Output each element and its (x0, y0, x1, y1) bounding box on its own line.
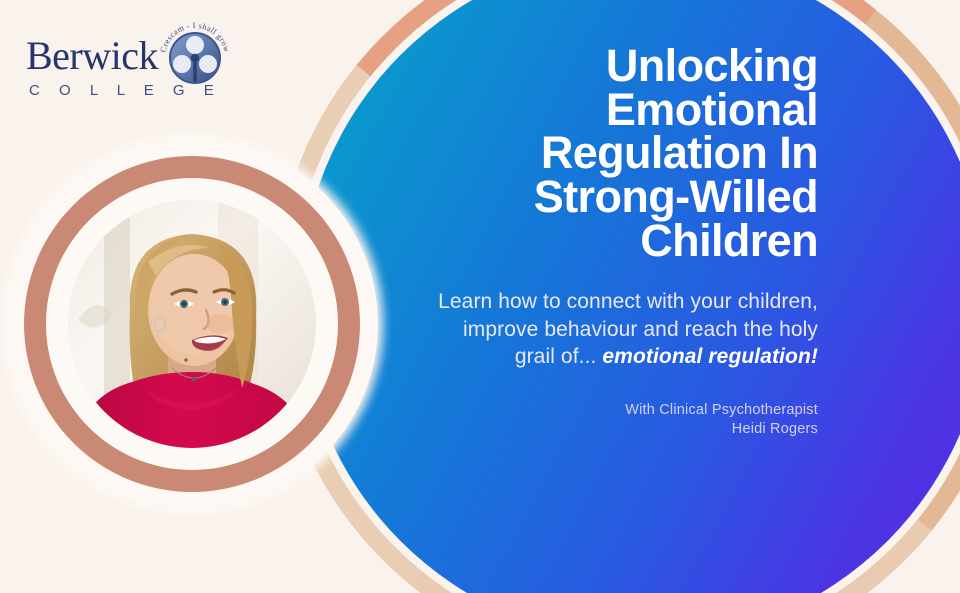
presenter-credit: With Clinical Psychotherapist Heidi Roge… (420, 401, 818, 439)
title-line-1: Unlocking (420, 44, 818, 88)
title-line-5: Children (420, 219, 818, 263)
presenter-role: With Clinical Psychotherapist (420, 401, 818, 420)
subtitle-emphasis: emotional regulation! (602, 345, 818, 368)
hero-content: Unlocking Emotional Regulation In Strong… (420, 44, 818, 438)
title-line-3: Regulation In (420, 131, 818, 175)
title-line-2: Emotional (420, 88, 818, 132)
presenter-name: Heidi Rogers (420, 420, 818, 439)
page-title: Unlocking Emotional Regulation In Strong… (420, 44, 818, 262)
berwick-college-logo: Berwick C O L L E G E (26, 14, 246, 106)
title-line-4: Strong-Willed (420, 175, 818, 219)
promo-poster: Unlocking Emotional Regulation In Strong… (0, 0, 960, 593)
presenter-portrait-medallion (6, 138, 378, 510)
logo-emblem-icon: Crescam - I shall grow (154, 14, 236, 96)
avatar (68, 200, 316, 448)
subtitle: Learn how to connect with your children,… (420, 288, 818, 371)
logo-wordmark: Berwick (26, 36, 158, 76)
